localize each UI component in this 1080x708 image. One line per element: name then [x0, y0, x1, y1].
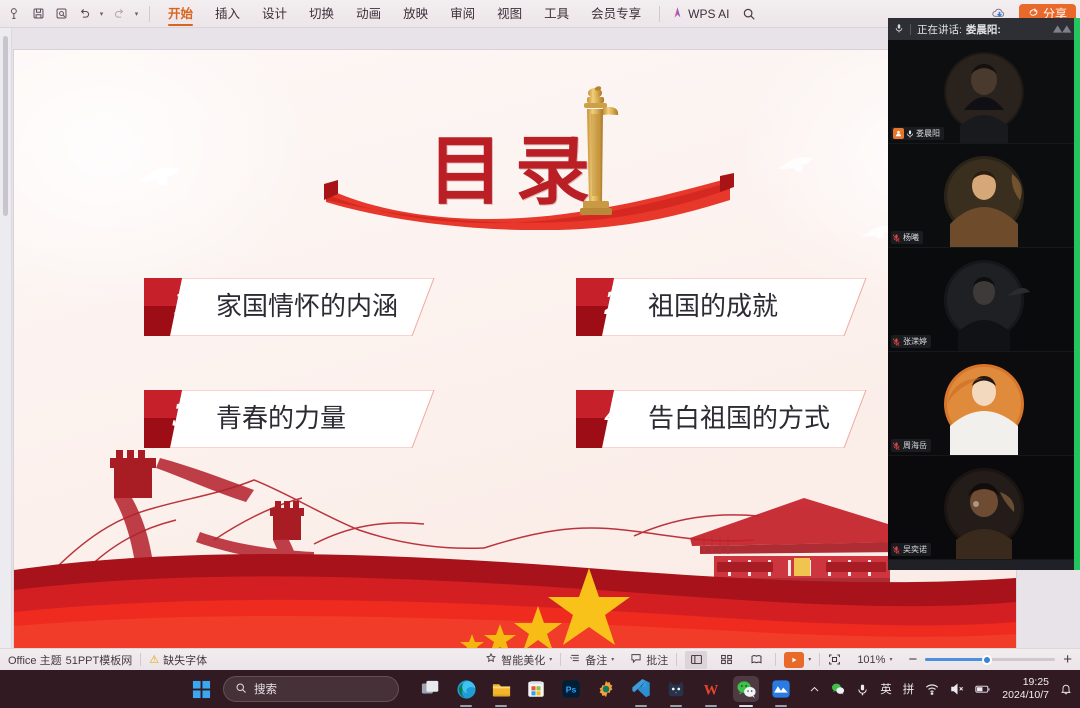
windows-taskbar: 搜索: [0, 670, 1080, 708]
participant-tile[interactable]: 吴奕诺: [888, 456, 1080, 560]
zoom-in-button[interactable]: +: [1055, 649, 1080, 671]
settings-gear-icon[interactable]: [593, 676, 619, 702]
microsoft-store-icon[interactable]: [523, 676, 549, 702]
wechat-icon[interactable]: [733, 676, 759, 702]
save-icon[interactable]: [27, 3, 49, 25]
wps-ai-button[interactable]: WPS AI: [671, 6, 729, 22]
tab-member-exclusive[interactable]: 会员专享: [580, 0, 652, 28]
toc-item-number: 2: [598, 286, 632, 322]
participant-name-tag: 娄晨阳: [891, 127, 944, 140]
pin-icon[interactable]: [4, 3, 26, 25]
participant-name: 周海岳: [903, 440, 927, 451]
slideshow-button[interactable]: ▾: [776, 649, 819, 671]
view-slide-sorter-icon[interactable]: [715, 651, 737, 669]
tab-view[interactable]: 视图: [486, 0, 533, 28]
speaking-now-label: 正在讲话:: [917, 22, 962, 37]
tab-animations[interactable]: 动画: [345, 0, 392, 28]
battery-icon[interactable]: [975, 683, 991, 695]
wps-office-icon[interactable]: W: [698, 676, 724, 702]
toolbar-divider-2: [659, 6, 660, 22]
search-icon[interactable]: [742, 7, 756, 21]
theme-label[interactable]: Office 主题 51PPT模板网: [0, 649, 140, 671]
redo-icon[interactable]: [108, 3, 130, 25]
thumbnail-scrollbar-thumb[interactable]: [3, 36, 8, 216]
participant-name-tag: 杨曦: [891, 231, 923, 244]
chevron-down-icon[interactable]: ▾: [808, 656, 811, 663]
search-placeholder: 搜索: [254, 681, 277, 697]
zoom-in-label: +: [1063, 651, 1072, 668]
tencent-meeting-icon[interactable]: [768, 676, 794, 702]
taskbar-clock[interactable]: 19:25 2024/10/7: [1002, 676, 1049, 702]
zoom-level-display[interactable]: 101% ▾: [849, 649, 900, 671]
cat-app-icon[interactable]: [663, 676, 689, 702]
missing-font-warning[interactable]: ⚠ 缺失字体: [141, 649, 215, 671]
zoom-out-button[interactable]: −: [900, 649, 925, 671]
chevron-up-icon[interactable]: [809, 684, 820, 695]
slide-title-block[interactable]: 目录: [14, 92, 1016, 222]
smart-beautify-button[interactable]: 智能美化 ▾: [477, 649, 560, 671]
notification-bell-icon[interactable]: [1060, 683, 1072, 695]
play-icon[interactable]: [784, 652, 804, 668]
participant-name-tag: 周海岳: [891, 439, 931, 452]
warning-icon: ⚠: [149, 653, 159, 666]
tab-transitions[interactable]: 切换: [298, 0, 345, 28]
svg-text:W: W: [704, 682, 719, 698]
meeting-video-panel: 正在讲话: 娄晨阳: 娄晨阳: [888, 18, 1080, 570]
meeting-speaking-header: 正在讲话: 娄晨阳:: [888, 18, 1080, 40]
chevron-down-icon[interactable]: ▾: [549, 656, 552, 663]
zoom-slider[interactable]: [925, 649, 1055, 671]
meeting-share-border: [1074, 18, 1080, 570]
tab-slideshow[interactable]: 放映: [392, 0, 439, 28]
notes-icon: [569, 652, 581, 667]
slide-footer-artwork: [14, 420, 1016, 650]
participant-name-tag: 张溁婷: [891, 335, 931, 348]
huabiao-column-icon: [574, 84, 620, 216]
participant-name: 娄晨阳: [916, 128, 940, 139]
toc-item-label: 祖国的成就: [648, 278, 778, 336]
template-name: 51PPT模板网: [66, 652, 133, 668]
tab-design[interactable]: 设计: [251, 0, 298, 28]
save-as-icon[interactable]: [50, 3, 72, 25]
tab-insert[interactable]: 插入: [204, 0, 251, 28]
microphone-muted-icon: [893, 333, 900, 351]
participant-name: 张溁婷: [903, 336, 927, 347]
chevron-down-icon[interactable]: ▾: [889, 656, 892, 663]
ime-mode-indicator[interactable]: 拼: [903, 681, 915, 697]
notes-label: 备注: [585, 652, 607, 668]
toc-item-1[interactable]: 1 家国情怀的内涵: [144, 278, 444, 336]
volume-muted-icon[interactable]: [950, 682, 964, 696]
system-tray: 英 拼 19:25 2024/10/7: [809, 676, 1080, 702]
taskbar-search-box[interactable]: 搜索: [223, 676, 399, 702]
audio-waveform-icon: [1053, 23, 1075, 38]
customize-quick-access-icon[interactable]: ▾: [131, 3, 142, 25]
ribbon-tabs: 开始 插入 设计 切换 动画 放映 审阅 视图 工具 会员专享: [157, 0, 652, 28]
comments-button[interactable]: 批注: [622, 649, 676, 671]
participant-tile[interactable]: 张溁婷: [888, 248, 1080, 352]
header-divider: [910, 24, 911, 35]
microphone-icon: [894, 20, 904, 38]
fit-to-window-button[interactable]: [820, 649, 849, 671]
microphone-muted-icon: [893, 437, 900, 455]
tab-home[interactable]: 开始: [157, 0, 204, 28]
task-view-icon[interactable]: [418, 676, 444, 702]
zoom-out-label: −: [908, 651, 917, 668]
participant-tile[interactable]: 杨曦: [888, 144, 1080, 248]
comments-label: 批注: [646, 652, 668, 668]
zoom-level-label: 101%: [857, 654, 885, 666]
clock-time: 19:25: [1002, 676, 1049, 689]
microphone-muted-icon: [893, 541, 900, 559]
view-reading-icon[interactable]: [745, 651, 767, 669]
microphone-on-icon: [907, 125, 913, 143]
tab-review[interactable]: 审阅: [439, 0, 486, 28]
svg-text:Ps: Ps: [566, 685, 577, 695]
zoom-slider-handle[interactable]: [982, 655, 992, 665]
edge-browser-icon[interactable]: [453, 676, 479, 702]
chevron-down-icon[interactable]: ▾: [611, 656, 614, 663]
participant-name-tag: 吴奕诺: [891, 543, 931, 556]
slide-canvas[interactable]: 目录: [14, 50, 1016, 650]
wechat-tray-icon[interactable]: [831, 682, 845, 696]
toc-item-number: 1: [166, 286, 200, 322]
wps-ai-label: WPS AI: [688, 7, 729, 21]
tab-tools[interactable]: 工具: [533, 0, 580, 28]
wps-ai-logo-icon: [671, 6, 684, 22]
quick-access-toolbar: ▾ ▾: [0, 3, 142, 25]
fit-to-window-icon: [828, 653, 841, 666]
comment-icon: [630, 652, 642, 667]
view-mode-group: [677, 649, 775, 671]
microphone-muted-icon: [893, 229, 900, 247]
beautify-label: 智能美化: [501, 652, 545, 668]
ime-language-indicator[interactable]: 英: [880, 681, 892, 697]
wifi-icon[interactable]: [925, 682, 939, 696]
taskbar-app-group: 搜索: [188, 676, 794, 702]
participant-name: 吴奕诺: [903, 544, 927, 555]
toc-item-2[interactable]: 2 祖国的成就: [576, 278, 876, 336]
windows-start-icon[interactable]: [188, 676, 214, 702]
zoom-slider-fill: [925, 658, 987, 661]
undo-icon[interactable]: [73, 3, 95, 25]
theme-name: Office 主题: [8, 652, 62, 668]
search-icon: [235, 682, 247, 697]
file-explorer-icon[interactable]: [488, 676, 514, 702]
clock-date: 2024/10/7: [1002, 689, 1049, 702]
notes-button[interactable]: 备注 ▾: [561, 649, 622, 671]
undo-dropdown-icon[interactable]: ▾: [96, 3, 107, 25]
participant-tile[interactable]: 娄晨阳: [888, 40, 1080, 144]
speaking-now-name: 娄晨阳:: [966, 22, 1001, 37]
toc-item-label: 家国情怀的内涵: [216, 278, 398, 336]
photoshop-icon[interactable]: Ps: [558, 676, 584, 702]
participant-name: 杨曦: [903, 232, 919, 243]
status-bar: Office 主题 51PPT模板网 ⚠ 缺失字体 智能美化 ▾ 备注 ▾: [0, 648, 1080, 670]
host-badge-icon: [893, 128, 904, 139]
slide-thumbnail-rail[interactable]: [0, 28, 12, 648]
vscode-icon[interactable]: [628, 676, 654, 702]
missing-font-label: 缺失字体: [163, 652, 207, 668]
page-title: 目录: [14, 110, 1016, 219]
view-normal-icon[interactable]: [685, 651, 707, 669]
microphone-tray-icon[interactable]: [856, 683, 869, 696]
participant-tile[interactable]: 周海岳: [888, 352, 1080, 456]
toolbar-divider: [149, 6, 150, 22]
beautify-icon: [485, 652, 497, 667]
